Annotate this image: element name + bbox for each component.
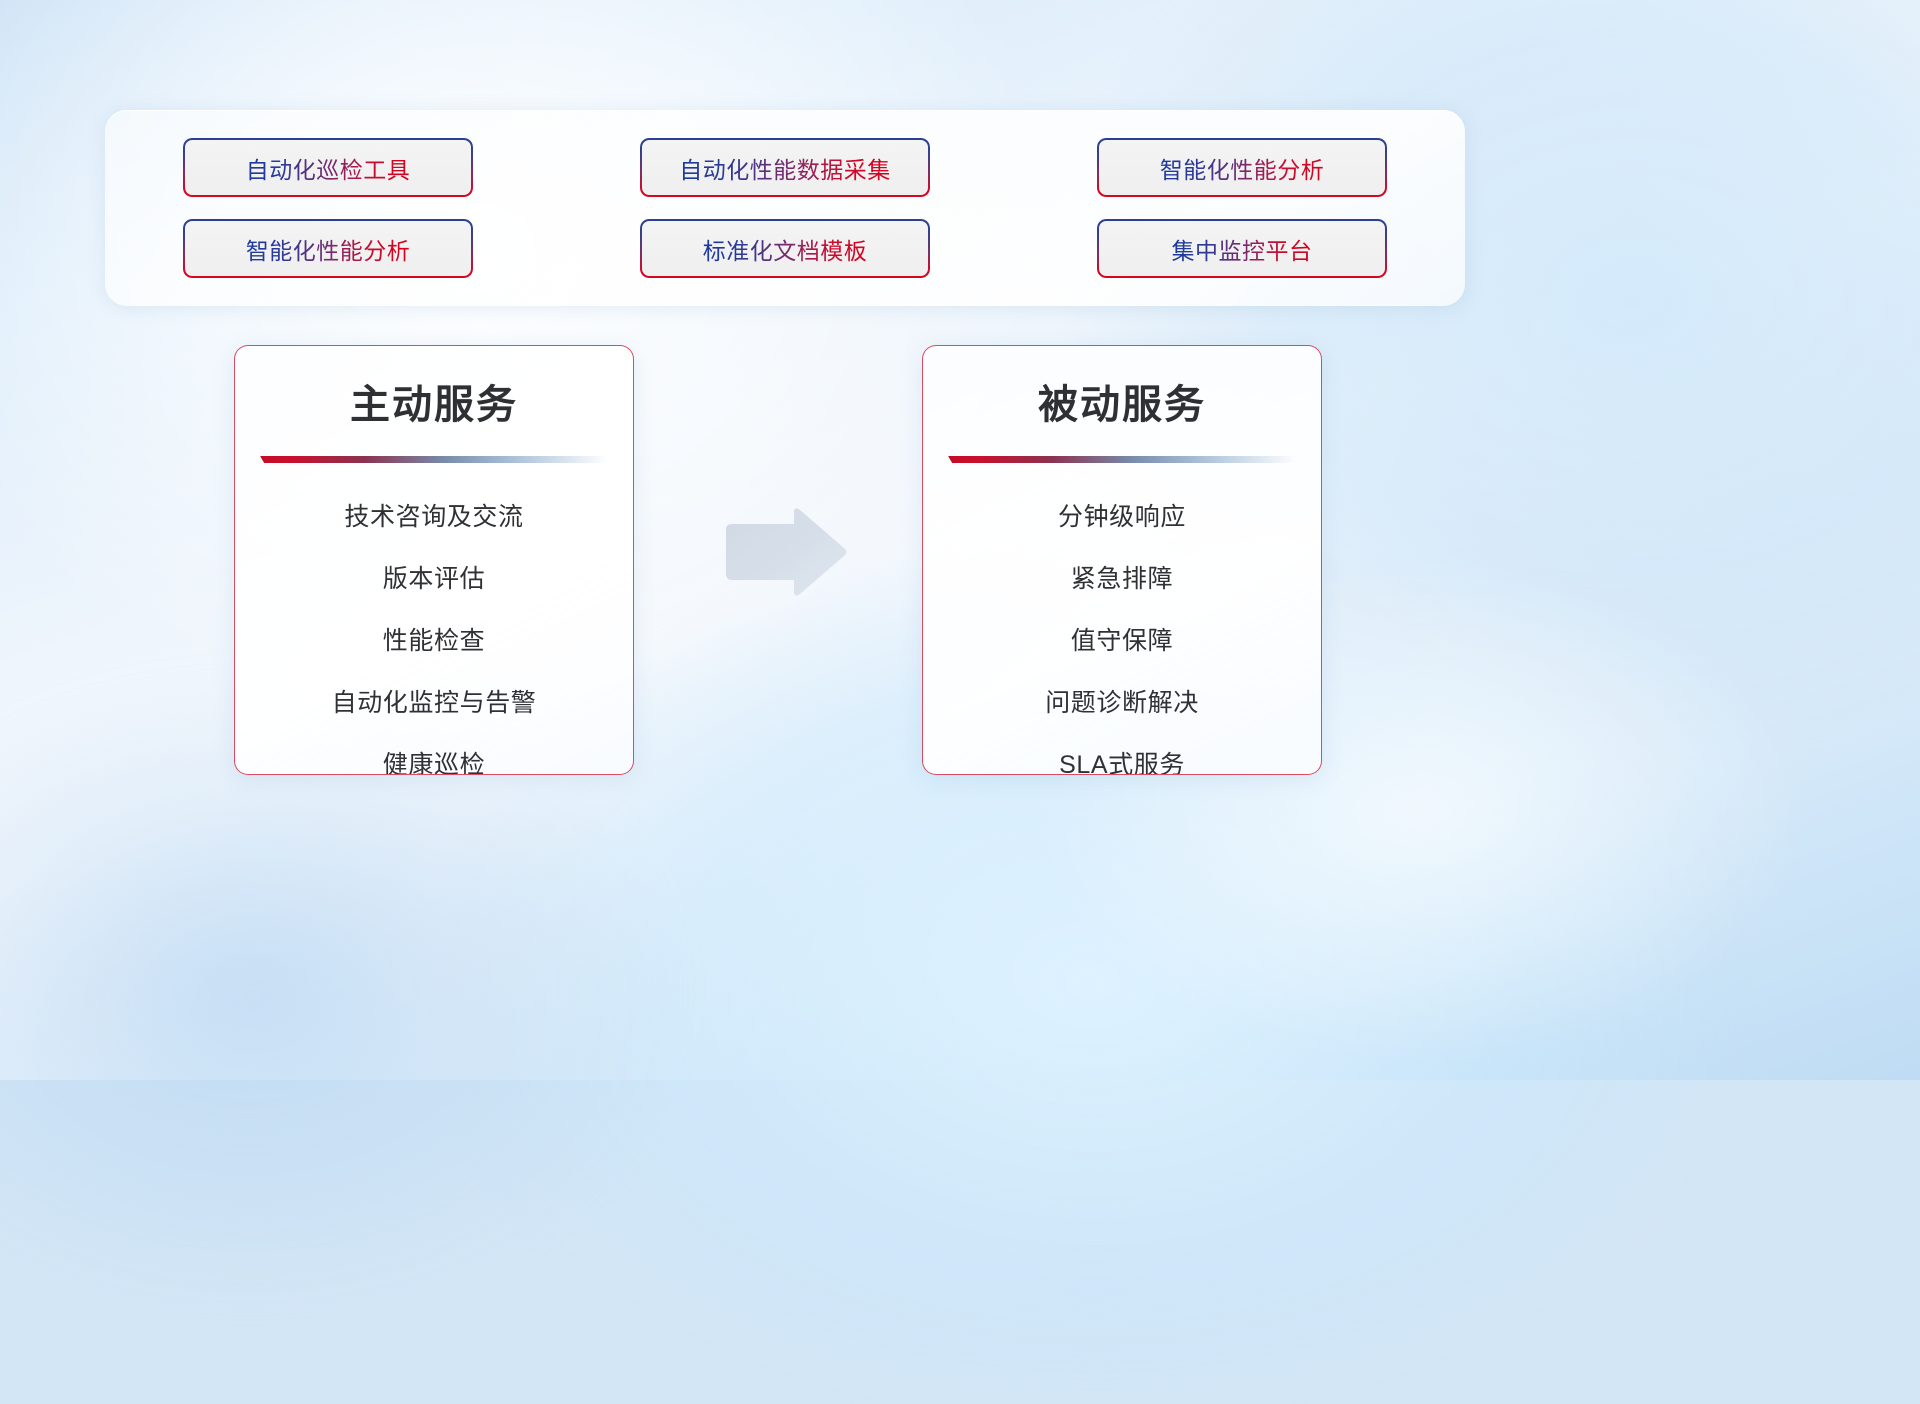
- capability-tag[interactable]: 自动化性能数据采集: [640, 138, 930, 197]
- capability-tag-label: 标准化文档模板: [703, 232, 868, 266]
- capability-tags-panel: 自动化巡检工具 自动化性能数据采集 智能化性能分析 智能化性能分析 标准化文档模…: [105, 110, 1465, 306]
- title-divider: [260, 456, 608, 463]
- capability-tag-label: 智能化性能分析: [246, 232, 411, 266]
- capability-tag-label: 集中监控平台: [1172, 232, 1313, 266]
- capability-tag-label: 智能化性能分析: [1160, 151, 1325, 185]
- service-list-item: 分钟级响应: [1058, 497, 1186, 533]
- service-card-reactive: 被动服务 分钟级响应 紧急排障 值守保障 问题诊断解决 SLA式服务: [922, 345, 1322, 775]
- service-list-item: 性能检查: [383, 621, 485, 657]
- capability-tag-label: 自动化性能数据采集: [679, 151, 891, 185]
- service-list-item: SLA式服务: [1059, 745, 1185, 775]
- capability-tag[interactable]: 集中监控平台: [1097, 219, 1387, 278]
- service-card-proactive: 主动服务 技术咨询及交流 版本评估 性能检查 自动化监控与告警 健康巡检: [234, 345, 634, 775]
- capability-tag-label: 自动化巡检工具: [246, 151, 411, 185]
- service-list-item: 紧急排障: [1071, 559, 1173, 595]
- service-list-item: 问题诊断解决: [1045, 683, 1199, 719]
- service-item-list: 分钟级响应 紧急排障 值守保障 问题诊断解决 SLA式服务: [923, 463, 1321, 775]
- service-list-item: 技术咨询及交流: [344, 497, 523, 533]
- service-card-title: 主动服务: [235, 372, 633, 430]
- title-divider: [948, 456, 1296, 463]
- arrow-right-icon: [718, 506, 848, 598]
- service-card-title: 被动服务: [923, 372, 1321, 430]
- capability-tag[interactable]: 智能化性能分析: [183, 219, 473, 278]
- capability-tag[interactable]: 自动化巡检工具: [183, 138, 473, 197]
- capability-tag[interactable]: 标准化文档模板: [640, 219, 930, 278]
- service-item-list: 技术咨询及交流 版本评估 性能检查 自动化监控与告警 健康巡检: [235, 463, 633, 775]
- service-list-item: 自动化监控与告警: [332, 683, 537, 719]
- service-list-item: 值守保障: [1071, 621, 1173, 657]
- capability-tag-row: 智能化性能分析 标准化文档模板 集中监控平台: [183, 219, 1387, 278]
- service-list-item: 健康巡检: [383, 745, 485, 775]
- service-list-item: 版本评估: [383, 559, 485, 595]
- capability-tag-row: 自动化巡检工具 自动化性能数据采集 智能化性能分析: [183, 138, 1387, 197]
- capability-tag[interactable]: 智能化性能分析: [1097, 138, 1387, 197]
